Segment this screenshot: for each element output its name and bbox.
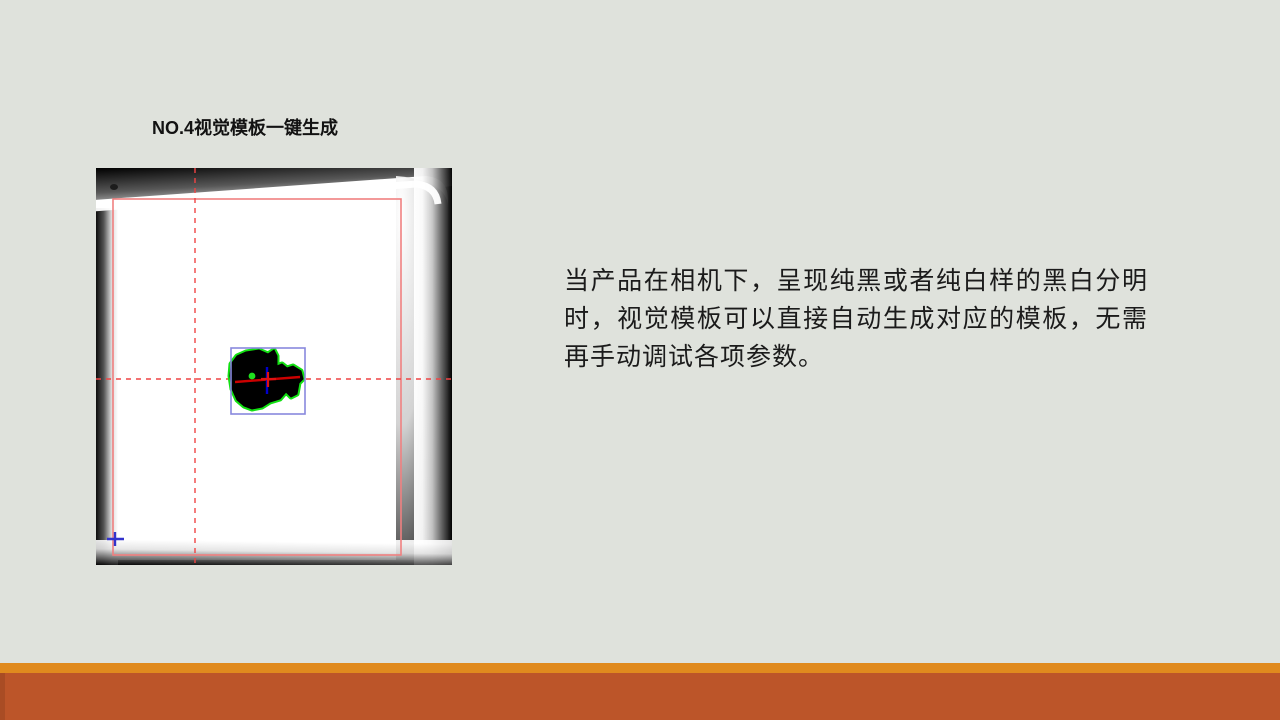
dust-speck [110,184,118,190]
vision-screenshot-image [96,168,452,565]
body-paragraph: 当产品在相机下，呈现纯黑或者纯白样的黑白分明时，视觉模板可以直接自动生成对应的模… [564,262,1148,376]
vision-screenshot-figure [96,168,452,565]
footer-bar [0,673,1280,720]
footer-accent-bar [0,663,1280,673]
slide-canvas: NO.4视觉模板一键生成 [0,0,1280,720]
page-title: NO.4视觉模板一键生成 [152,114,338,140]
footer-bar-left-edge [0,673,5,720]
blob-marker-dot [249,373,256,380]
